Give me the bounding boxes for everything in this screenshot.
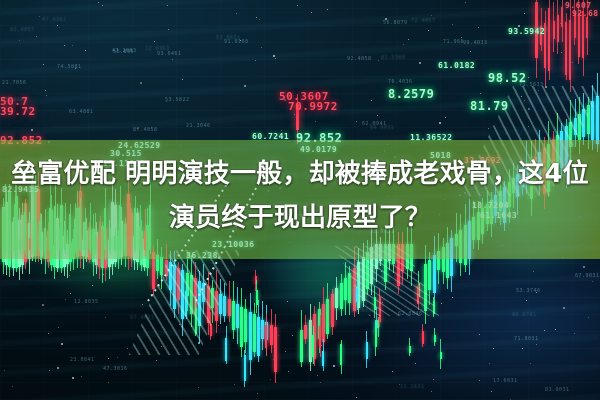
banner-image: 47.036156.89547.206392.405774.588121.705… xyxy=(0,0,600,400)
vignette xyxy=(0,0,600,400)
